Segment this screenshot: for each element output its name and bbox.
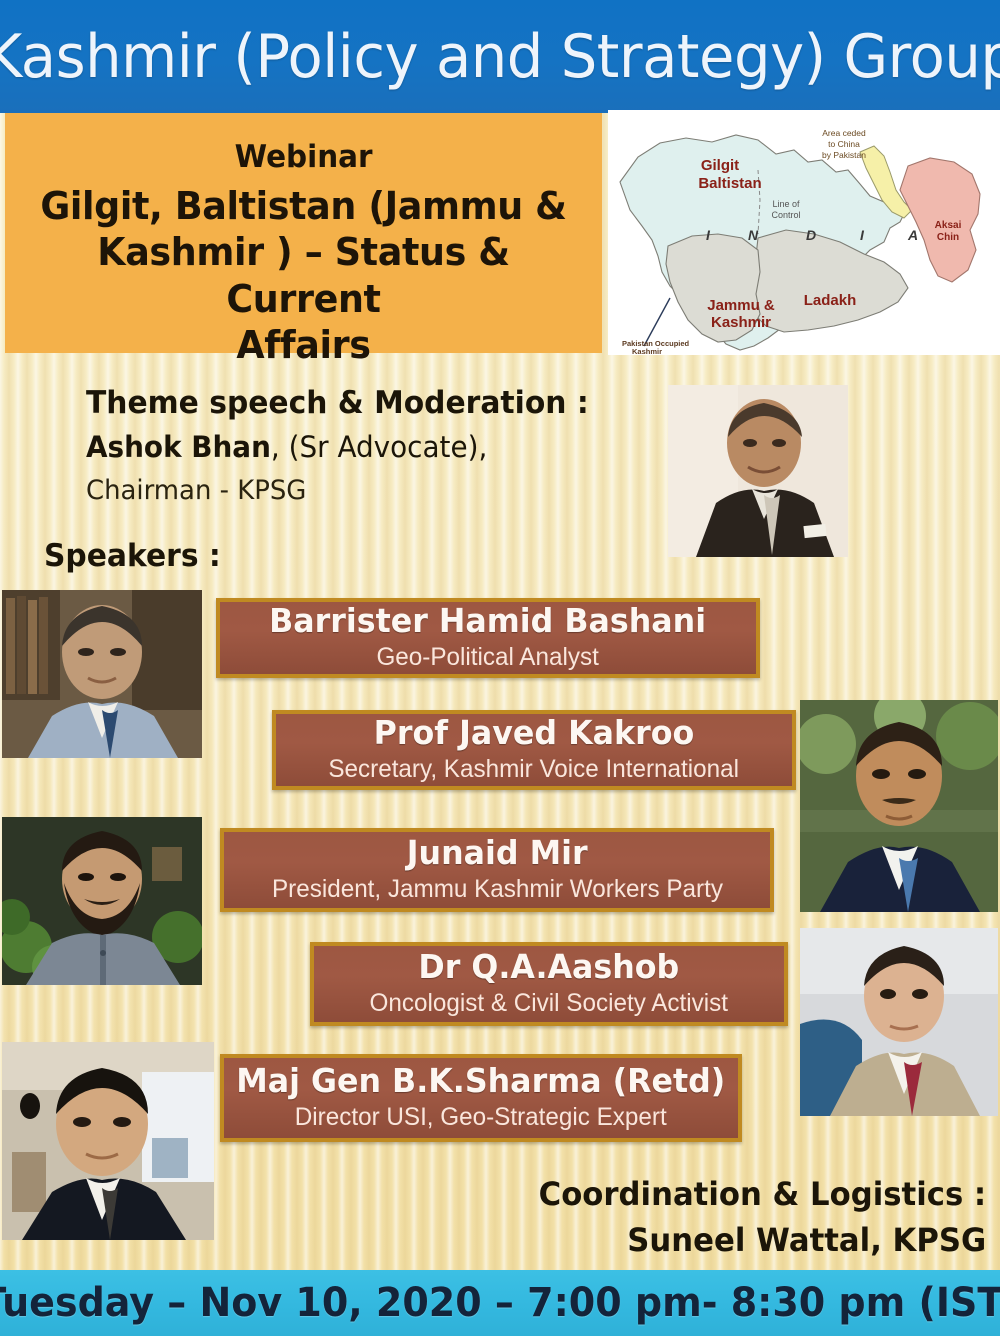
photo-bk-sharma-image: [2, 1042, 214, 1240]
map-label-ceded-2: to China: [828, 139, 860, 149]
map-label-aksai-1: Aksai: [935, 220, 962, 231]
map-label-ceded-3: by Pakistan: [822, 150, 866, 160]
map-label-india-2: D: [806, 227, 816, 243]
map-label-loc-2: Control: [771, 210, 800, 220]
photo-qa-aashob-image: [800, 928, 998, 1116]
speaker-role-4: Director USI, Geo-Strategic Expert: [295, 1104, 667, 1132]
map-label-india-1: N: [748, 227, 759, 243]
speaker-name-3: Dr Q.A.Aashob: [419, 950, 680, 985]
map-label-jammu-2: Kashmir: [711, 314, 771, 331]
map-label-ladakh: Ladakh: [804, 292, 857, 309]
theme-speech-block: Theme speech & Moderation : Ashok Bhan, …: [86, 383, 686, 508]
theme-speech-person-name: Ashok Bhan: [86, 430, 271, 464]
page-title: Kashmir (Policy and Strategy) Group: [0, 22, 1000, 92]
poster-header-bar: Kashmir (Policy and Strategy) Group: [0, 0, 1000, 113]
map-label-baltistan: Baltistan: [698, 175, 761, 192]
speaker-role-1: Secretary, Kashmir Voice International: [329, 756, 740, 784]
photo-javed-kakroo: [800, 700, 998, 912]
speaker-name-4: Maj Gen B.K.Sharma (Retd): [236, 1064, 725, 1099]
speaker-banner-3: Dr Q.A.Aashob Oncologist & Civil Society…: [310, 942, 788, 1026]
poster-footer-bar: Tuesday – Nov 10, 2020 – 7:00 pm- 8:30 p…: [0, 1270, 1000, 1336]
webinar-topic-line-1: Gilgit, Baltistan (Jammu &: [17, 183, 590, 229]
theme-speech-person-suffix: , (Sr Advocate),: [271, 430, 487, 464]
speaker-name-2: Junaid Mir: [407, 836, 588, 871]
map-label-india-4: A: [907, 227, 918, 243]
coordination-block: Coordination & Logistics : Suneel Wattal…: [520, 1175, 986, 1259]
webinar-poster: Kashmir (Policy and Strategy) Group Webi…: [0, 0, 1000, 1336]
coordination-heading: Coordination & Logistics :: [538, 1175, 986, 1213]
theme-speech-person-role: Chairman - KPSG: [86, 473, 662, 508]
map-graphic: Gilgit Baltistan Ladakh Jammu & Kashmir …: [608, 110, 1000, 355]
speaker-name-0: Barrister Hamid Bashani: [270, 604, 707, 639]
coordination-person: Suneel Wattal, KPSG: [538, 1221, 986, 1259]
photo-bk-sharma: [2, 1042, 214, 1240]
jammu-kashmir-region-map: Gilgit Baltistan Ladakh Jammu & Kashmir …: [608, 110, 1000, 355]
speaker-role-3: Oncologist & Civil Society Activist: [370, 990, 728, 1018]
photo-qa-aashob: [800, 928, 998, 1116]
event-datetime: Tuesday – Nov 10, 2020 – 7:00 pm- 8:30 p…: [0, 1280, 1000, 1326]
speaker-banner-4: Maj Gen B.K.Sharma (Retd) Director USI, …: [220, 1054, 742, 1142]
webinar-topic: Gilgit, Baltistan (Jammu & Kashmir ) – S…: [17, 183, 590, 368]
photo-ashok-bhan: [668, 385, 848, 557]
webinar-topic-line-3: Affairs: [17, 322, 590, 368]
map-label-jammu-1: Jammu &: [707, 297, 775, 314]
speaker-banner-1: Prof Javed Kakroo Secretary, Kashmir Voi…: [272, 710, 796, 790]
map-label-pok-2: Kashmir: [632, 347, 662, 355]
photo-ashok-bhan-image: [668, 385, 848, 557]
photo-hamid-bashani: [2, 590, 202, 758]
speakers-label: Speakers :: [44, 538, 221, 574]
photo-junaid-mir: [2, 817, 202, 985]
speaker-name-1: Prof Javed Kakroo: [374, 716, 695, 751]
webinar-title-panel: Webinar Gilgit, Baltistan (Jammu & Kashm…: [5, 113, 602, 353]
photo-javed-kakroo-image: [800, 700, 998, 912]
map-label-gilgit: Gilgit: [701, 157, 739, 174]
webinar-topic-line-2: Kashmir ) – Status & Current: [17, 229, 590, 322]
map-label-aksai-2: Chin: [937, 232, 959, 243]
theme-speech-person: Ashok Bhan, (Sr Advocate),: [86, 429, 662, 467]
theme-speech-heading: Theme speech & Moderation :: [86, 383, 662, 423]
photo-junaid-mir-image: [2, 817, 202, 985]
photo-hamid-bashani-image: [2, 590, 202, 758]
map-label-loc-1: Line of: [772, 199, 800, 209]
speaker-banner-0: Barrister Hamid Bashani Geo-Political An…: [216, 598, 760, 678]
speaker-role-2: President, Jammu Kashmir Workers Party: [271, 876, 722, 904]
speaker-banner-2: Junaid Mir President, Jammu Kashmir Work…: [220, 828, 774, 912]
speaker-role-0: Geo-Political Analyst: [377, 644, 599, 672]
webinar-label: Webinar: [235, 139, 373, 175]
map-label-ceded-1: Area ceded: [822, 128, 866, 138]
